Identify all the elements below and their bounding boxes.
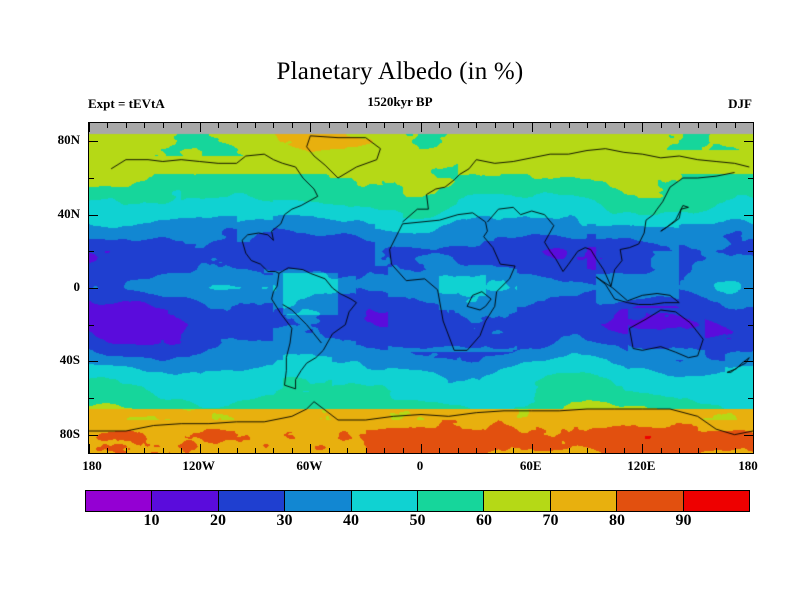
axis-tick (550, 448, 551, 453)
axis-tick (458, 448, 459, 453)
axis-tick (605, 448, 606, 453)
longitude-tick-label: 120W (182, 458, 215, 474)
axis-tick (310, 123, 311, 132)
axis-tick (218, 123, 219, 128)
colorbar-swatch (219, 491, 285, 511)
axis-tick (89, 178, 94, 179)
axis-tick (605, 123, 606, 128)
axis-tick (89, 435, 98, 436)
axis-tick (200, 123, 201, 132)
axis-tick (273, 123, 274, 128)
axis-tick (748, 178, 753, 179)
axis-tick (753, 123, 754, 132)
axis-tick (329, 123, 330, 128)
colorbar-tick-label: 90 (676, 512, 692, 530)
axis-tick (744, 141, 753, 142)
axis-tick (744, 361, 753, 362)
colorbar-swatch (352, 491, 418, 511)
axis-tick (163, 123, 164, 128)
axis-tick (384, 123, 385, 128)
axis-tick (181, 448, 182, 453)
colorbar-tick-label: 40 (343, 512, 359, 530)
axis-tick (624, 448, 625, 453)
axis-tick (89, 361, 98, 362)
axis-tick (753, 444, 754, 453)
axis-tick (366, 123, 367, 128)
longitude-tick-label: 180 (738, 458, 758, 474)
axis-tick (569, 448, 570, 453)
longitude-axis: 180120W60W060E120E180 (88, 458, 752, 478)
axis-tick (661, 448, 662, 453)
axis-tick (144, 123, 145, 128)
latitude-tick-label: 40S (34, 353, 80, 366)
axis-tick (403, 123, 404, 128)
axis-tick (550, 123, 551, 128)
axis-tick (439, 448, 440, 453)
axis-tick (744, 288, 753, 289)
axis-tick (748, 325, 753, 326)
axis-tick (495, 123, 496, 128)
colorbar-labels: 102030405060708090 (85, 512, 750, 534)
axis-tick (679, 448, 680, 453)
axis-tick (89, 141, 98, 142)
axis-tick (476, 123, 477, 128)
axis-tick (126, 123, 127, 128)
longitude-tick-label: 60W (296, 458, 322, 474)
axis-tick (513, 123, 514, 128)
axis-tick (744, 435, 753, 436)
axis-tick (698, 123, 699, 128)
axis-tick (421, 444, 422, 453)
axis-tick (292, 448, 293, 453)
season-label: DJF (664, 96, 752, 112)
axis-tick (237, 448, 238, 453)
colorbar-tick-label: 20 (210, 512, 226, 530)
axis-tick (107, 123, 108, 128)
axis-tick (458, 123, 459, 128)
axis-tick (587, 123, 588, 128)
axis-tick (163, 448, 164, 453)
axis-tick (89, 123, 90, 132)
axis-tick (439, 123, 440, 128)
axis-tick (237, 123, 238, 128)
latitude-tick-label: 80S (34, 427, 80, 440)
axis-tick (513, 448, 514, 453)
axis-tick (107, 448, 108, 453)
longitude-tick-label: 60E (520, 458, 542, 474)
axis-tick (642, 444, 643, 453)
axis-tick (181, 123, 182, 128)
albedo-contour-canvas (89, 123, 753, 453)
colorbar-tick-label: 60 (476, 512, 492, 530)
axis-tick (698, 448, 699, 453)
longitude-tick-label: 180 (82, 458, 102, 474)
axis-tick (292, 123, 293, 128)
axis-tick (89, 325, 94, 326)
axis-tick (587, 448, 588, 453)
axis-tick (329, 448, 330, 453)
colorbar-swatch (551, 491, 617, 511)
axis-tick (384, 448, 385, 453)
axis-tick (679, 123, 680, 128)
axis-tick (421, 123, 422, 132)
axis-tick (366, 448, 367, 453)
axis-tick (255, 448, 256, 453)
axis-tick (716, 123, 717, 128)
axis-tick (624, 123, 625, 128)
axis-tick (347, 448, 348, 453)
colorbar-tick-label: 80 (609, 512, 625, 530)
colorbar-swatch (684, 491, 749, 511)
colorbar-swatch (418, 491, 484, 511)
colorbar-tick-label: 70 (543, 512, 559, 530)
axis-tick (89, 251, 94, 252)
axis-tick (273, 448, 274, 453)
axis-tick (89, 398, 94, 399)
axis-tick (642, 123, 643, 132)
colorbar-tick-label: 10 (144, 512, 160, 530)
colorbar-swatch (484, 491, 550, 511)
axis-tick (744, 215, 753, 216)
axis-tick (126, 448, 127, 453)
axis-tick (735, 448, 736, 453)
colorbar-swatch (285, 491, 351, 511)
colorbar (85, 490, 750, 512)
latitude-tick-label: 0 (34, 280, 80, 293)
axis-tick (495, 448, 496, 453)
axis-tick (200, 444, 201, 453)
axis-tick (403, 448, 404, 453)
albedo-map-figure: Planetary Albedo (in %) 1520kyr BP Expt … (0, 0, 800, 600)
axis-tick (735, 123, 736, 128)
latitude-tick-label: 40N (34, 207, 80, 220)
latitude-tick-label: 80N (34, 133, 80, 146)
axis-tick (661, 123, 662, 128)
axis-tick (748, 398, 753, 399)
colorbar-swatch (86, 491, 152, 511)
colorbar-tick-label: 50 (410, 512, 426, 530)
axis-tick (89, 288, 98, 289)
map-plot-area (88, 122, 754, 454)
colorbar-tick-label: 30 (277, 512, 293, 530)
latitude-axis: 80N40N040S80S (34, 122, 80, 452)
axis-tick (89, 215, 98, 216)
axis-tick (532, 444, 533, 453)
colorbar-swatch (152, 491, 218, 511)
longitude-tick-label: 120E (627, 458, 655, 474)
axis-tick (748, 251, 753, 252)
axis-tick (218, 448, 219, 453)
colorbar-swatch (617, 491, 683, 511)
axis-tick (347, 123, 348, 128)
axis-tick (476, 448, 477, 453)
experiment-label: Expt = tEVtA (88, 96, 165, 112)
axis-tick (716, 448, 717, 453)
axis-tick (569, 123, 570, 128)
longitude-tick-label: 0 (417, 458, 424, 474)
page-title: Planetary Albedo (in %) (0, 58, 800, 86)
axis-tick (310, 444, 311, 453)
axis-tick (144, 448, 145, 453)
axis-tick (89, 444, 90, 453)
axis-tick (532, 123, 533, 132)
axis-tick (255, 123, 256, 128)
